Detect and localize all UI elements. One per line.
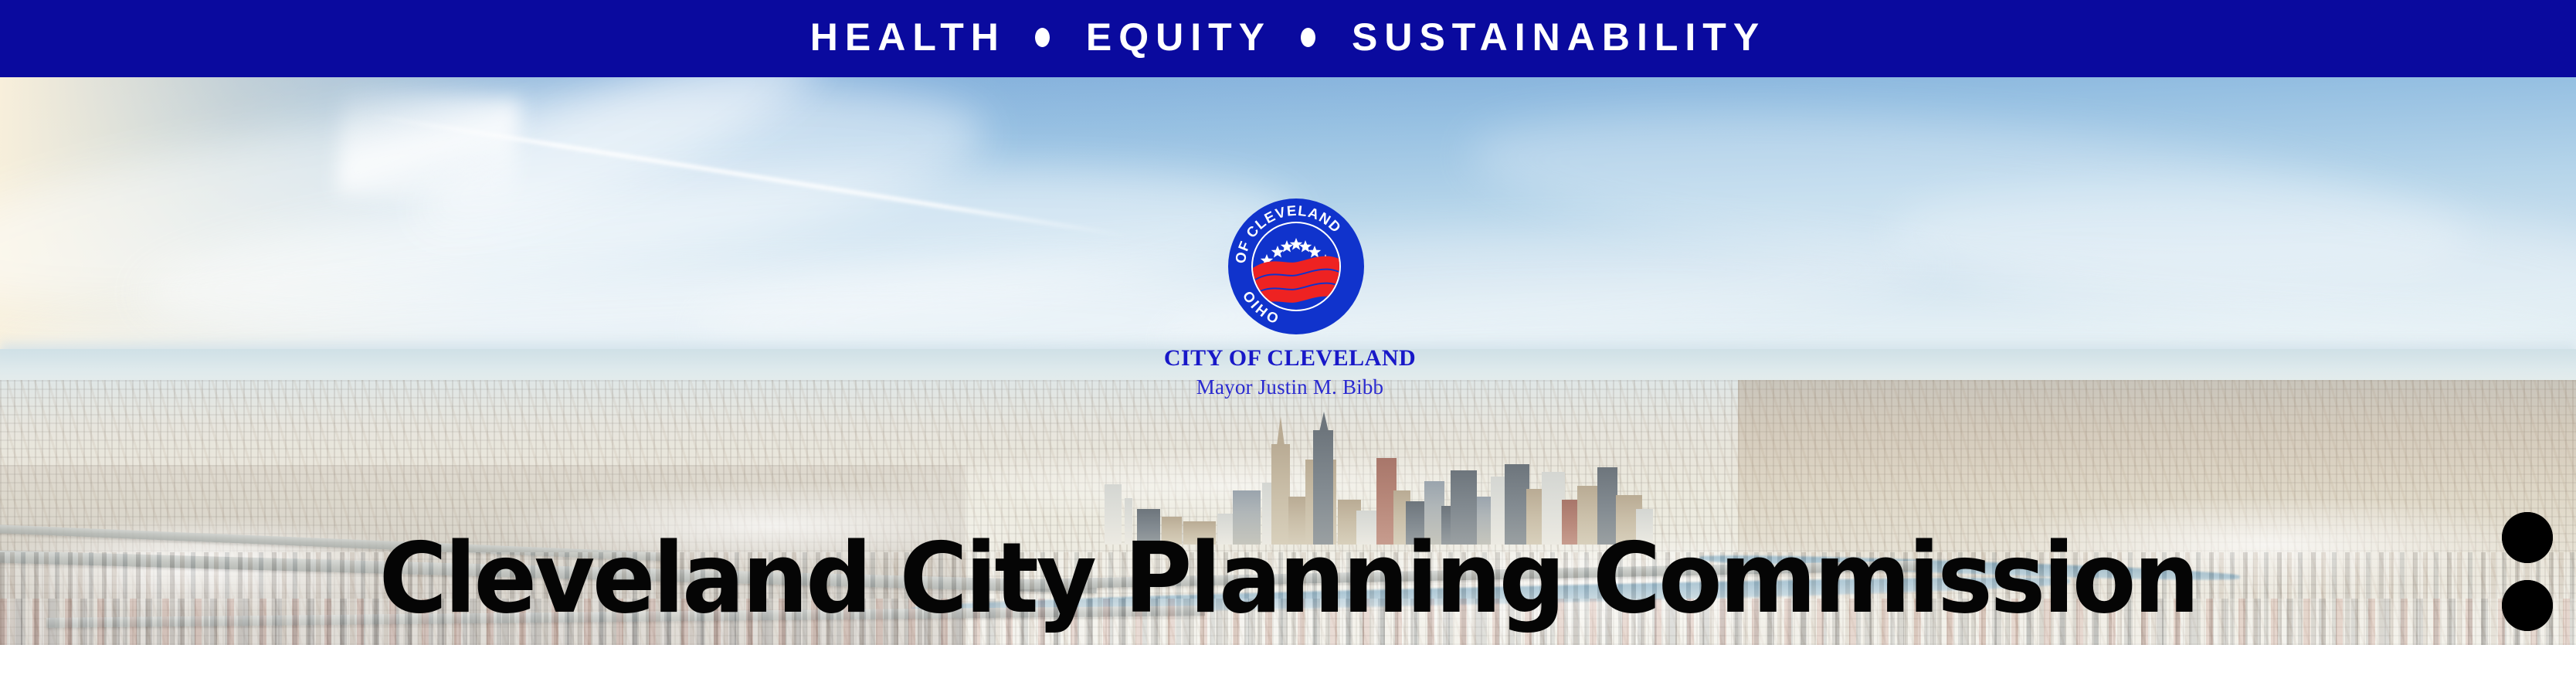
tagline-word-health: HEALTH xyxy=(810,18,1006,56)
youtube-icon[interactable] xyxy=(2502,512,2553,563)
seal-title: CITY OF CLEVELAND xyxy=(1081,346,1498,371)
tagline-word-sustainability: SUSTAINABILITY xyxy=(1352,18,1766,56)
bullet-dot-icon xyxy=(1035,28,1050,47)
bottom-white-strip xyxy=(0,645,2576,682)
hero-banner-image: CITY OF CLEVELAND OHIO xyxy=(0,77,2576,645)
tagline-banner: HEALTH EQUITY SUSTAINABILITY xyxy=(0,0,2576,77)
city-of-cleveland-seal-icon: CITY OF CLEVELAND OHIO xyxy=(1227,197,1366,336)
terminal-tower-spire xyxy=(1277,416,1285,446)
page-title: Cleveland City Planning Commission xyxy=(58,530,2518,627)
seal-mayor-name: Mayor Justin M. Bibb xyxy=(1081,375,1498,399)
key-tower-crown xyxy=(1319,412,1329,432)
contrail-plume xyxy=(336,87,521,207)
social-links xyxy=(2502,512,2556,645)
bullet-dot-icon xyxy=(1301,28,1315,47)
tagline-word-equity: EQUITY xyxy=(1086,18,1271,56)
instagram-icon[interactable] xyxy=(2502,580,2553,631)
page-root: HEALTH EQUITY SUSTAINABILITY xyxy=(0,0,2576,682)
tagline-banner-content: HEALTH EQUITY SUSTAINABILITY xyxy=(810,18,1766,56)
seal-caption: CITY OF CLEVELAND Mayor Justin M. Bibb xyxy=(1081,346,1498,399)
